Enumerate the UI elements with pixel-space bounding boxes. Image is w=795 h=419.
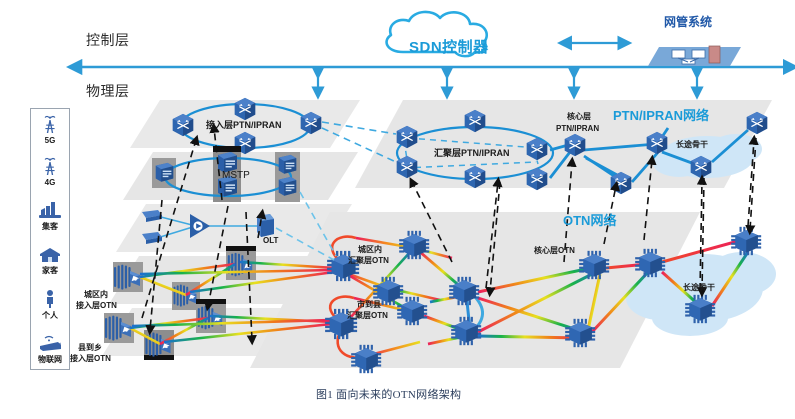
legend-label: 4G <box>45 178 56 187</box>
cell-tower-icon <box>39 155 61 177</box>
sdn-controller-label: SDN控制器 <box>409 36 489 57</box>
control-layer-title: 控制层 <box>86 30 130 50</box>
otn-agg-city-county-label-line2: 汇聚层OTN <box>347 311 388 320</box>
ptn-access-tier-label: 接入层PTN/IPRAN <box>206 120 282 130</box>
figure-caption: 图1 面向未来的OTN网络架构 <box>316 386 461 402</box>
legend-label: 集客 <box>42 221 58 232</box>
enterprise-building-icon <box>38 198 62 220</box>
otn-backbone-label: 长途骨干 <box>683 283 715 292</box>
network-management-server-icon <box>648 46 741 66</box>
legend-label: 5G <box>45 136 56 145</box>
legend-item-5g[interactable]: 5G <box>31 113 69 145</box>
otn-access-urban-label-line1: 城区内 <box>84 290 108 299</box>
otn-core-tier-label: 核心层OTN <box>534 246 575 255</box>
legend-item-iot[interactable]: 物联网 <box>31 331 69 365</box>
legend-item-4g[interactable]: 4G <box>31 155 69 187</box>
physical-layer-title: 物理层 <box>86 81 130 101</box>
person-icon <box>43 287 57 309</box>
legend-item-enterprise[interactable]: 集客 <box>31 198 69 232</box>
legend-label: 家客 <box>42 265 58 276</box>
otn-network-heading: OTN网络 <box>563 210 616 229</box>
otn-agg-city-county-label-line1: 市到县 <box>357 300 381 309</box>
otn-access-county-label-line2: 接入层OTN <box>70 354 111 363</box>
ptn-ipran-network-heading: PTN/IPRAN网络 <box>613 105 709 124</box>
layer-mapping-arrows <box>318 74 697 94</box>
legend-item-home[interactable]: 家客 <box>31 242 69 276</box>
ptn-core-tier-label-line1: 核心层 <box>567 112 591 121</box>
ptn-backbone-label: 长途骨干 <box>676 140 708 149</box>
otn-access-urban-label-line2: 接入层OTN <box>76 301 117 310</box>
home-icon <box>38 242 62 264</box>
otn-agg-urban-label-line2: 汇聚层OTN <box>348 256 389 265</box>
cell-tower-icon <box>39 113 61 135</box>
ptn-core-tier-label-line2: PTN/IPRAN <box>556 124 599 133</box>
legend-item-personal[interactable]: 个人 <box>31 287 69 321</box>
network-diagram <box>0 0 795 419</box>
otn-agg-urban-label-line1: 城区内 <box>358 245 382 254</box>
figure-canvas: 控制层 物理层 SDN控制器 网管系统 PTN/IPRAN网络 接入层PTN/I… <box>0 0 795 419</box>
mstp-tier-label: MSTP <box>222 170 250 182</box>
iot-gateway-icon <box>37 331 63 353</box>
ptn-agg-tier-label: 汇聚层PTN/IPRAN <box>434 148 510 158</box>
nms-label: 网管系统 <box>664 13 712 30</box>
access-scenario-legend: 5G 4G <box>30 108 70 370</box>
olt-label: OLT <box>263 236 278 245</box>
otn-access-county-label-line1: 县到乡 <box>78 343 102 352</box>
legend-label: 物联网 <box>38 354 62 365</box>
legend-label: 个人 <box>42 310 58 321</box>
